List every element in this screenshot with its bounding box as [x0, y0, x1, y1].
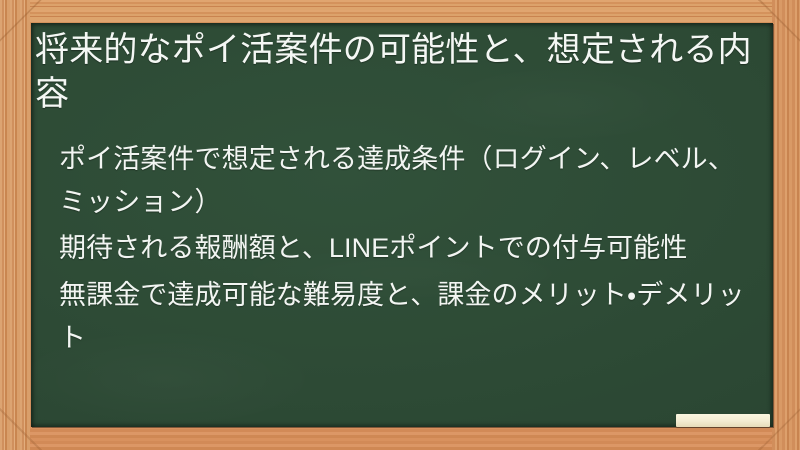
chalkboard-slide: 将来的なポイ活案件の可能性と、想定される内容 ポイ活案件で想定される達成条件（ロ… — [0, 0, 800, 450]
frame-bottom-rail — [0, 426, 800, 450]
bullet-item-2: 期待される報酬額と、LINEポイントでの付与可能性 — [33, 227, 761, 270]
frame-left-stile — [0, 0, 30, 450]
slide-content: 将来的なポイ活案件の可能性と、想定される内容 ポイ活案件で想定される達成条件（ロ… — [31, 23, 773, 427]
bullet-list: ポイ活案件で想定される達成条件（ログイン、レベル、ミッション） 期待される報酬額… — [33, 138, 761, 359]
bullet-item-1: ポイ活案件で想定される達成条件（ログイン、レベル、ミッション） — [33, 138, 761, 223]
frame-right-stile — [772, 0, 800, 450]
chalk-stick-icon — [676, 414, 770, 427]
chalkboard-surface: 将来的なポイ活案件の可能性と、想定される内容 ポイ活案件で想定される達成条件（ロ… — [31, 23, 773, 427]
slide-title: 将来的なポイ活案件の可能性と、想定される内容 — [33, 29, 761, 116]
frame-top-rail — [0, 0, 800, 24]
bullet-item-3: 無課金で達成可能な難易度と、課金のメリット・デメリット — [33, 274, 761, 359]
